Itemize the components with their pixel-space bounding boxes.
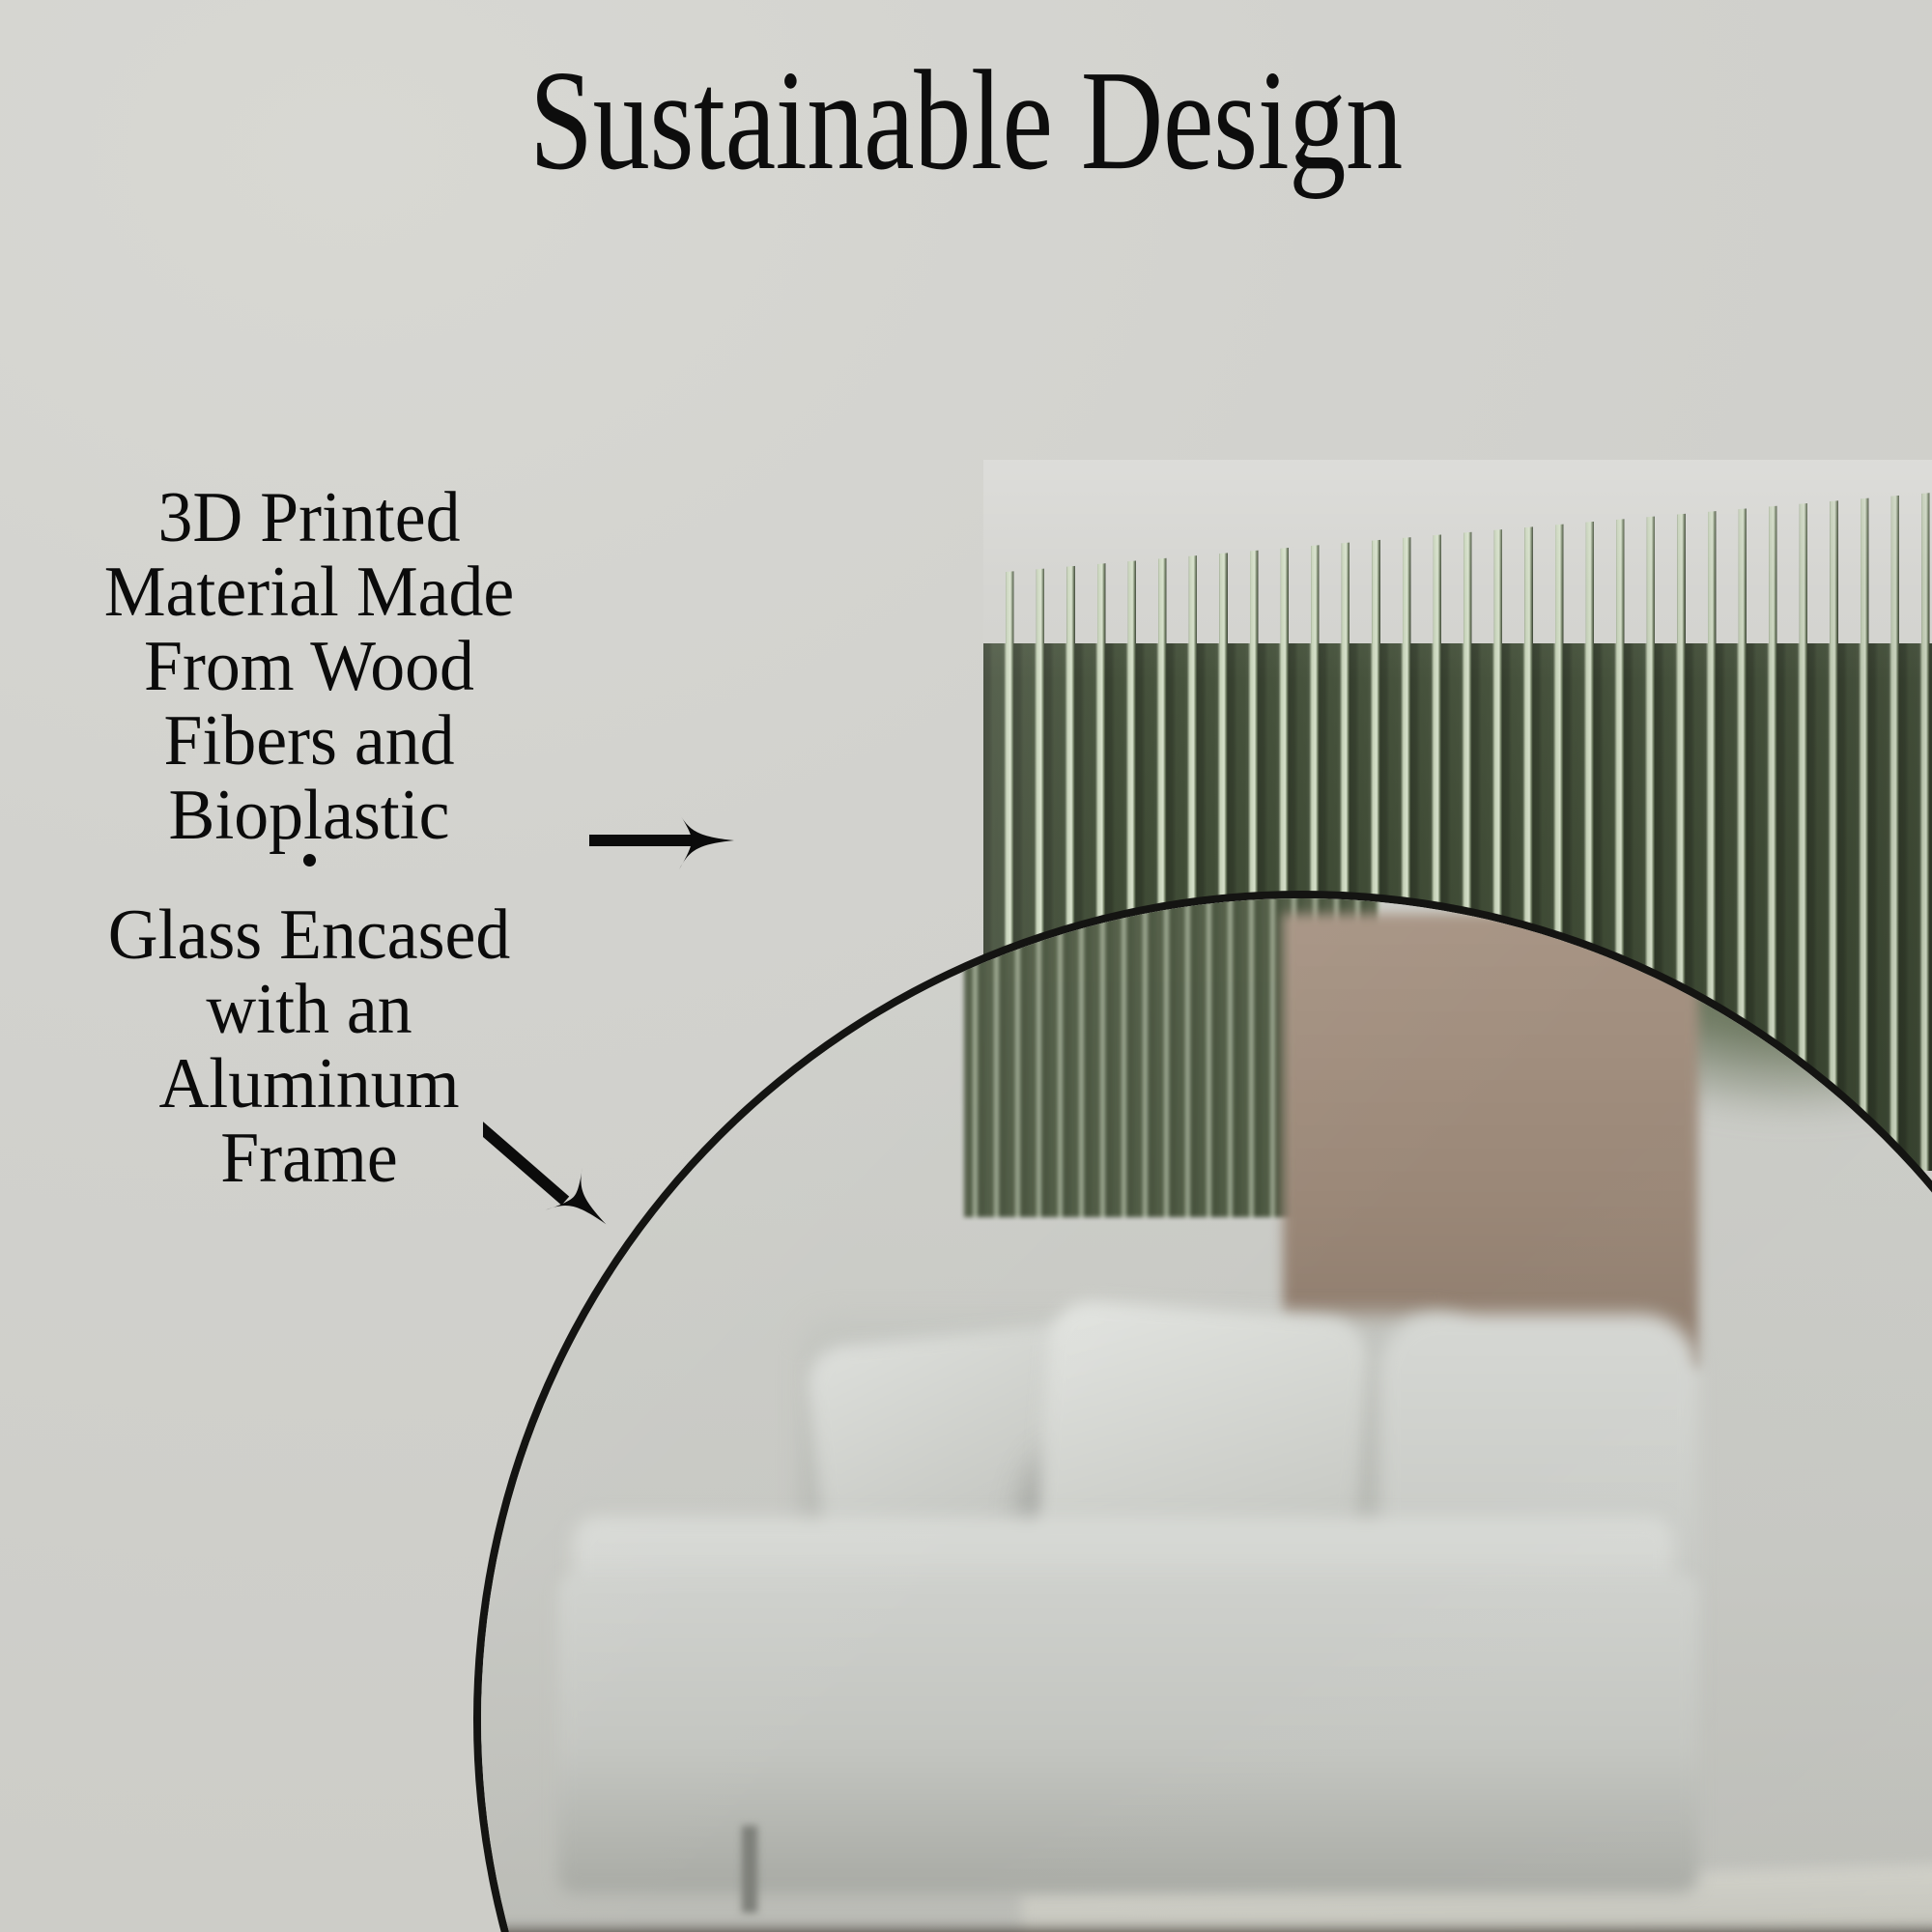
mirror-glass [481,898,1932,1932]
feature-line: Aluminum [38,1047,582,1122]
feature-line: with an [38,973,582,1047]
arrow-right-icon [589,794,763,891]
arrow-down-right-icon [483,1116,618,1241]
feature-line: Fibers and [38,704,582,779]
reflected-sofa-base [558,1575,1698,1893]
bullet-separator [29,854,589,871]
reflected-sofa-leg [742,1826,757,1913]
round-mirror-frame [473,891,1932,1932]
poster-canvas: Sustainable Design 3D Printed Material M… [0,0,1932,1932]
feature-text-material: 3D Printed Material Made From Wood Fiber… [29,481,589,853]
feature-line: Material Made [38,555,582,630]
feature-line: From Wood [38,630,582,704]
feature-line: 3D Printed [38,481,582,555]
reflected-wall-art [1283,914,1698,1368]
feature-line: Bioplastic [38,779,582,853]
feature-line: Glass Encased [38,898,582,973]
page-title: Sustainable Design [193,46,1739,196]
